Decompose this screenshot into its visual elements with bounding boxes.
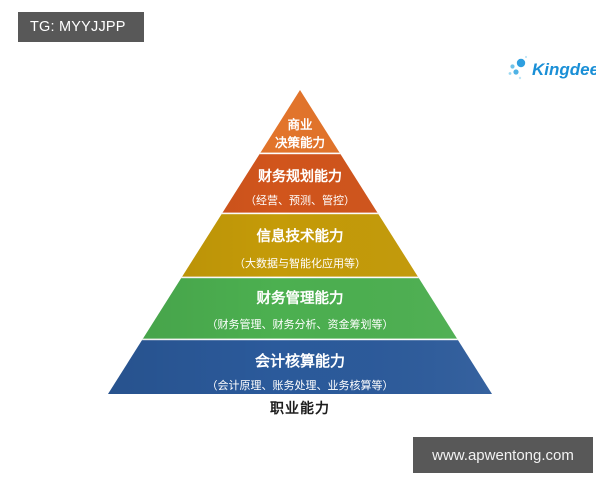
tier-financial-planning-title: 财务规划能力 (257, 168, 342, 184)
tier-financial-planning-subtitle: （经营、预测、管控） (245, 193, 355, 207)
tier-business-decision-title: 商业 (287, 117, 313, 132)
tier-financial-management-title: 财务管理能力 (257, 289, 344, 307)
tier-business-decision-title-2: 决策能力 (275, 135, 325, 150)
tier-accounting-subtitle: （会计原理、账务处理、业务核算等） (207, 378, 394, 392)
site-watermark: www.apwentong.com (413, 437, 593, 473)
tier-information-technology-title: 信息技术能力 (257, 227, 344, 245)
tier-financial-management-subtitle: （财务管理、财务分析、资金筹划等） (207, 317, 394, 331)
tier-information-technology-subtitle: （大数据与智能化应用等） (234, 256, 366, 270)
tier-accounting-title: 会计核算能力 (255, 352, 345, 370)
pyramid-caption: 职业能力 (0, 398, 600, 418)
